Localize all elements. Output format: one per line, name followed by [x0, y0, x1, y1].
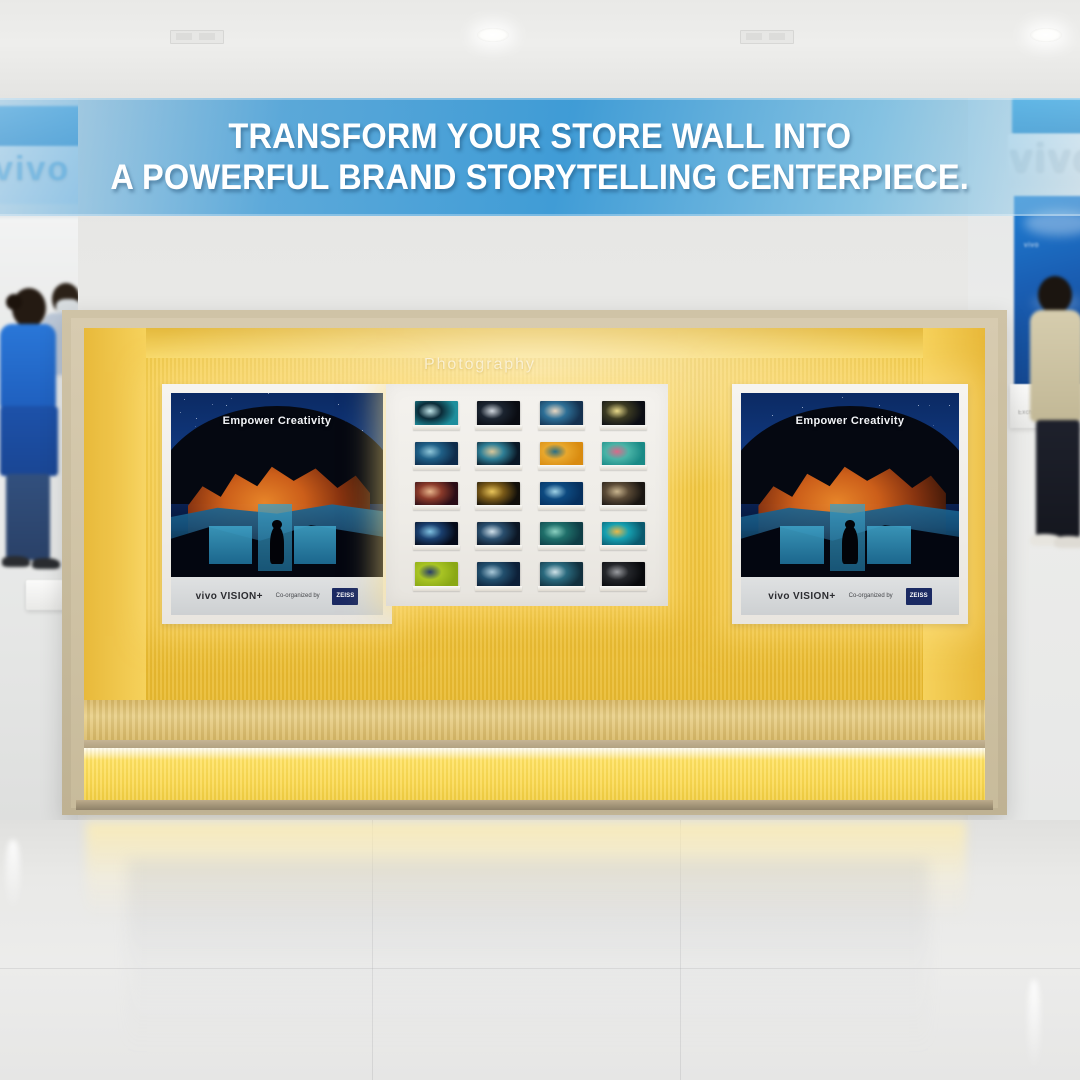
poster-brand-bar: vivo VISION+ Co-organized by ZEISS — [171, 577, 383, 615]
exhibition-photo — [415, 442, 458, 467]
star-speck — [180, 412, 181, 413]
photo-ledge — [538, 545, 585, 550]
unit-base-strip — [76, 800, 993, 810]
poster-silhouette-head — [845, 520, 855, 529]
photo-ledge — [600, 586, 647, 591]
photo-ledge — [538, 505, 585, 510]
star-speck — [842, 397, 843, 398]
person-legs — [6, 474, 50, 560]
person-customer-right — [1030, 276, 1080, 576]
exhibition-photo — [477, 401, 520, 426]
exhibition-photo — [540, 482, 583, 507]
photo-grid-item — [475, 440, 524, 473]
photo-ledge — [538, 465, 585, 470]
exhibition-photo — [415, 482, 458, 507]
person-skirt — [0, 406, 58, 476]
photography-display-unit: Photography — [62, 310, 1007, 815]
photo-grid-item — [537, 561, 586, 594]
zeiss-logo: ZEISS — [906, 588, 932, 605]
left-poster: Empower Creativity vivo VISION+ Co-organ… — [171, 393, 383, 615]
photo-grid-item — [475, 521, 524, 554]
photo-grid-item — [537, 480, 586, 513]
person-legs — [1036, 420, 1080, 538]
star-speck — [949, 405, 950, 406]
photo-ledge — [413, 425, 460, 430]
star-speck — [231, 398, 232, 399]
star-speck — [879, 405, 880, 406]
lit-display-niche: Photography — [84, 328, 985, 700]
photo-grid — [412, 400, 648, 594]
banner-line-1: TRANSFORM YOUR STORE WALL INTO — [229, 118, 852, 155]
poster-brand-bar: vivo VISION+ Co-organized by ZEISS — [741, 577, 959, 615]
star-speck — [268, 393, 269, 394]
poster-silhouette — [270, 526, 285, 564]
person-shirt — [0, 324, 56, 410]
ceiling-downlight-icon — [477, 28, 509, 42]
photo-grid-panel — [386, 384, 668, 606]
exhibition-photo — [415, 522, 458, 547]
exhibition-photo — [602, 482, 645, 507]
poster-brand-text: vivo VISION+ — [768, 591, 835, 602]
photo-ledge — [475, 465, 522, 470]
exhibition-photo — [415, 401, 458, 426]
person-shoe — [32, 558, 60, 569]
photo-grid-item — [475, 561, 524, 594]
photo-ledge — [413, 586, 460, 591]
photo-grid-item — [412, 561, 461, 594]
photo-ledge — [475, 505, 522, 510]
poster-credit-text: Co-organized by — [849, 593, 893, 599]
right-poster: Empower Creativity vivo VISION+ Co-organ… — [741, 393, 959, 615]
exhibition-photo — [602, 522, 645, 547]
photo-ledge — [538, 425, 585, 430]
poster-portal-right — [867, 526, 911, 564]
photo-grid-item — [600, 400, 649, 433]
photo-ledge — [475, 545, 522, 550]
exhibition-photo — [602, 442, 645, 467]
poster-brand-text: vivo VISION+ — [196, 591, 263, 602]
person-shoe — [2, 556, 30, 567]
poster-credit-text: Co-organized by — [276, 593, 320, 599]
photo-grid-item — [475, 400, 524, 433]
poster-portal-right — [294, 526, 336, 564]
right-poster-mount: Empower Creativity vivo VISION+ Co-organ… — [732, 384, 968, 624]
photo-ledge — [413, 545, 460, 550]
photo-ledge — [600, 425, 647, 430]
person-hair-bun — [6, 294, 22, 310]
exhibition-photo — [477, 442, 520, 467]
photo-ledge — [475, 425, 522, 430]
photo-grid-item — [412, 521, 461, 554]
photo-ledge — [600, 545, 647, 550]
exhibition-photo — [540, 442, 583, 467]
floor-reflection — [128, 860, 928, 1050]
photo-ledge — [413, 505, 460, 510]
poster-portal-left — [780, 526, 824, 564]
star-speck — [184, 399, 185, 400]
photo-ledge — [600, 465, 647, 470]
headline-banner: TRANSFORM YOUR STORE WALL INTO A POWERFU… — [0, 98, 1080, 216]
poster-headline: Empower Creativity — [171, 415, 383, 427]
ceiling-vent-icon — [740, 30, 794, 44]
person-head — [1038, 276, 1072, 314]
person-staff-front — [0, 288, 60, 588]
person-shoe — [1054, 536, 1080, 548]
photo-ledge — [538, 586, 585, 591]
photo-ledge — [475, 586, 522, 591]
photo-grid-item — [600, 440, 649, 473]
photo-ledge — [600, 505, 647, 510]
shelf-led-glow — [84, 748, 985, 760]
exhibition-photo — [477, 562, 520, 587]
poster-headline: Empower Creativity — [741, 415, 959, 427]
poster-portal-left — [209, 526, 251, 564]
exhibition-photo — [540, 401, 583, 426]
banner-top-edge — [0, 98, 1080, 100]
photo-grid-item — [537, 440, 586, 473]
exhibition-photo — [415, 562, 458, 587]
star-speck — [929, 405, 930, 406]
photo-grid-item — [600, 480, 649, 513]
left-poster-mount: Empower Creativity vivo VISION+ Co-organ… — [162, 384, 392, 624]
person-shirt — [1030, 310, 1080, 422]
exhibition-photo — [540, 562, 583, 587]
screenshot-root: vivo vivo vivo Exchang — [0, 0, 1080, 1080]
ceiling-downlight-icon — [1030, 28, 1062, 42]
niche-header-text: Photography — [424, 356, 536, 374]
exhibition-photo — [540, 522, 583, 547]
photo-grid-item — [475, 480, 524, 513]
exhibition-photo — [602, 401, 645, 426]
photo-grid-item — [412, 440, 461, 473]
zeiss-logo: ZEISS — [332, 588, 358, 605]
exhibition-photo — [477, 522, 520, 547]
ceiling-vent-icon — [170, 30, 224, 44]
ceiling — [0, 0, 1080, 98]
floor-highlight — [6, 840, 20, 910]
screen-caption: vivo — [1024, 242, 1039, 249]
banner-line-2: A POWERFUL BRAND STORYTELLING CENTERPIEC… — [111, 159, 970, 196]
photo-grid-item — [412, 400, 461, 433]
lower-lit-shelf — [84, 748, 985, 800]
photo-grid-item — [600, 561, 649, 594]
exhibition-photo — [602, 562, 645, 587]
photo-ledge — [413, 465, 460, 470]
poster-silhouette — [842, 526, 857, 564]
poster-silhouette-head — [272, 520, 281, 529]
star-speck — [212, 404, 213, 405]
photo-grid-item — [537, 400, 586, 433]
floor-highlight — [1028, 980, 1040, 1070]
exhibition-photo — [477, 482, 520, 507]
photo-grid-item — [600, 521, 649, 554]
banner-bottom-edge — [0, 214, 1080, 216]
photo-grid-item — [537, 521, 586, 554]
photo-grid-item — [412, 480, 461, 513]
